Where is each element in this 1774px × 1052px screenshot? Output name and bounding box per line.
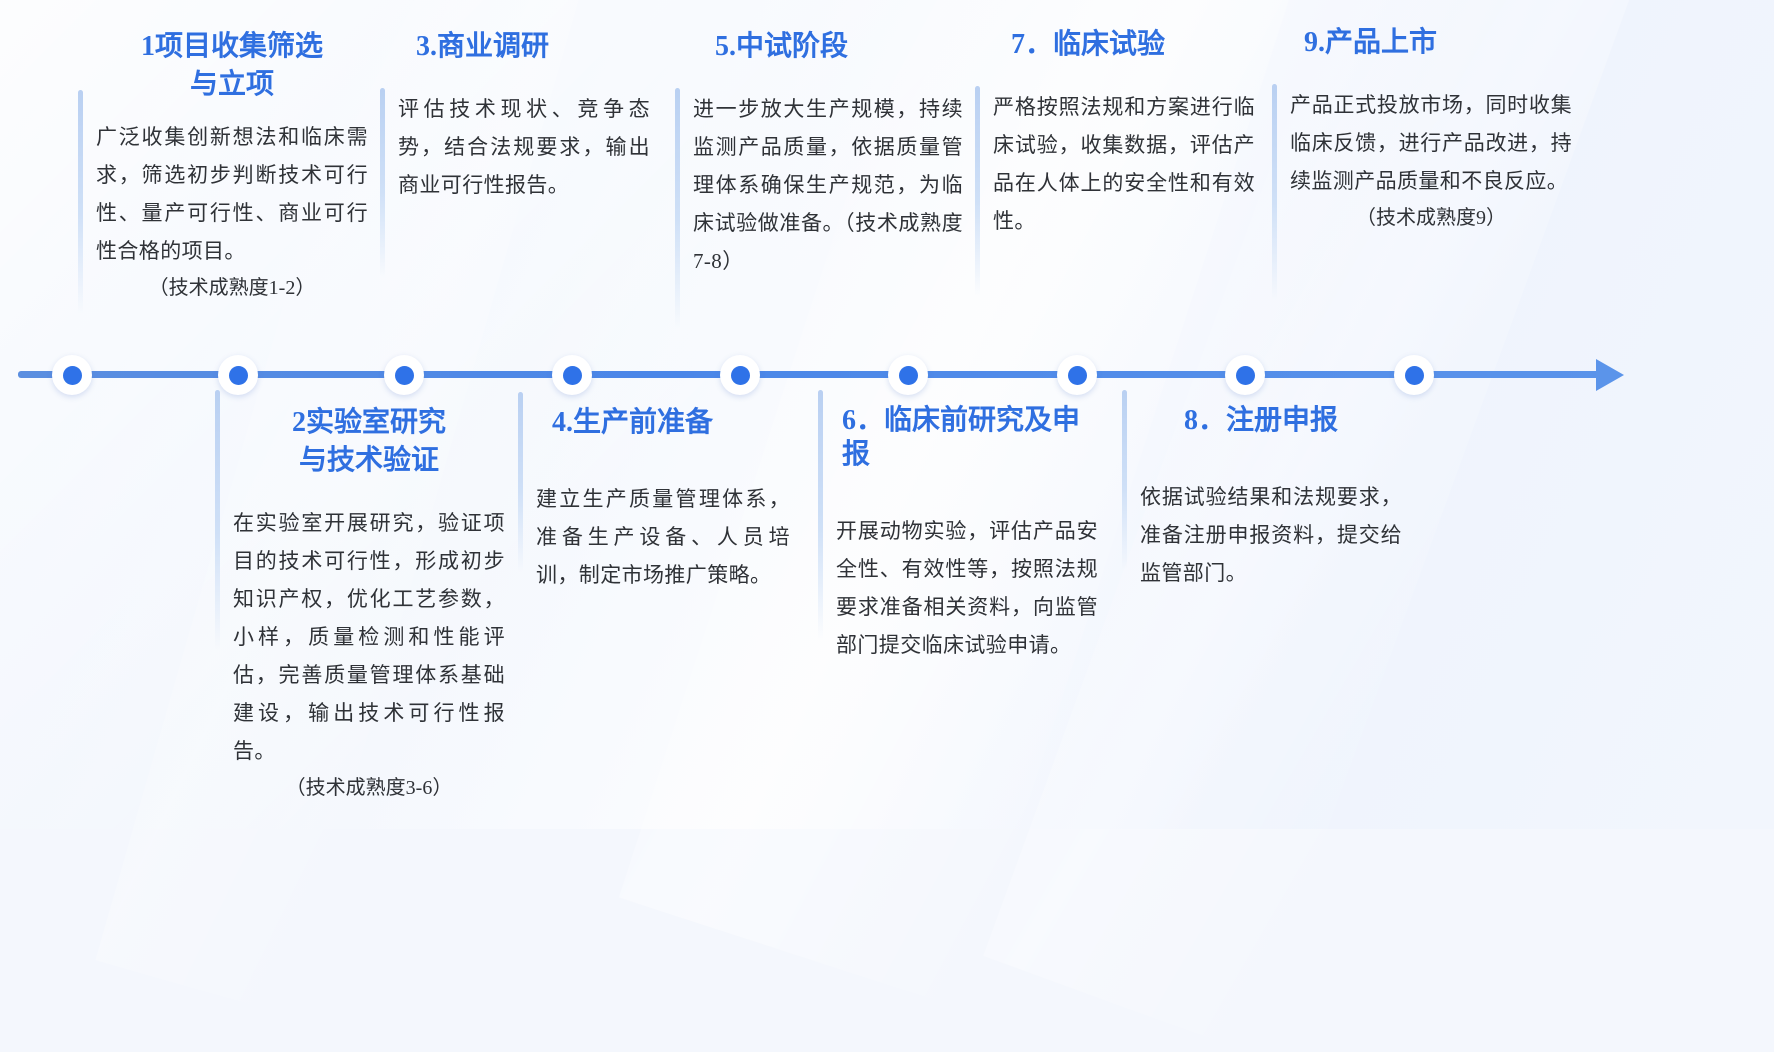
card-title: 9.产品上市	[1290, 26, 1572, 60]
card-title: 7．临床试验	[993, 28, 1255, 62]
card-description: 建立生产质量管理体系，准备生产设备、人员培训，制定市场推广策略。	[536, 480, 790, 594]
card-accent-bar	[1122, 390, 1127, 570]
card-title: 8．注册申报	[1140, 404, 1402, 438]
node-dot-icon	[1405, 366, 1424, 385]
card-title-line1: 2实验室研究	[292, 407, 446, 438]
card-title: 4.生产前准备	[536, 406, 790, 440]
node-dot-icon	[731, 366, 750, 385]
card-title-line2: 与技术验证	[299, 445, 439, 476]
card-description: 进一步放大生产规模，持续监测产品质量，依据质量管理体系确保生产规范，为临床试验做…	[693, 90, 963, 280]
timeline-node-3[interactable]	[384, 355, 424, 395]
card-title: 6．临床前研究及申报	[836, 404, 1098, 472]
card-description: 开展动物实验，评估产品安全性、有效性等，按照法规要求准备相关资料，向监管部门提交…	[836, 512, 1098, 664]
card-accent-bar	[78, 90, 83, 315]
card-title: 3.商业调研	[398, 30, 650, 64]
card-accent-bar	[518, 392, 523, 572]
node-dot-icon	[229, 366, 248, 385]
card-description: 评估技术现状、竞争态势，结合法规要求，输出商业可行性报告。	[398, 90, 650, 204]
timeline-diagram: 1项目收集筛选 与立项 广泛收集创新想法和临床需求，筛选初步判断技术可行性、量产…	[0, 0, 1774, 829]
card-title: 2实验室研究 与技术验证	[233, 404, 505, 480]
card-description: 依据试验结果和法规要求，准备注册申报资料，提交给监管部门。	[1140, 478, 1402, 592]
card-accent-bar	[1272, 84, 1277, 300]
card-description: 产品正式投放市场，同时收集临床反馈，进行产品改进，持续监测产品质量和不良反应。	[1290, 86, 1572, 200]
timeline-node-2[interactable]	[218, 355, 258, 395]
node-dot-icon	[395, 366, 414, 385]
node-dot-icon	[63, 366, 82, 385]
card-description: 广泛收集创新想法和临床需求，筛选初步判断技术可行性、量产可行性、商业可行性合格的…	[96, 118, 368, 270]
timeline-node-7[interactable]	[1057, 355, 1097, 395]
timeline-node-5[interactable]	[720, 355, 760, 395]
card-title-line2: 与立项	[190, 69, 274, 100]
timeline-node-9[interactable]	[1394, 355, 1434, 395]
timeline-node-4[interactable]	[552, 355, 592, 395]
card-accent-bar	[380, 88, 385, 278]
card-description: 在实验室开展研究，验证项目的技术可行性，形成初步知识产权，优化工艺参数，小样，质…	[233, 504, 505, 770]
timeline-node-8[interactable]	[1225, 355, 1265, 395]
timeline-axis	[0, 355, 1774, 395]
card-note: （技术成熟度3-6）	[233, 770, 505, 806]
timeline-arrow-icon	[1596, 359, 1624, 391]
card-note: （技术成熟度1-2）	[96, 270, 368, 306]
node-dot-icon	[563, 366, 582, 385]
card-note: （技术成熟度9）	[1290, 200, 1572, 236]
node-dot-icon	[1068, 366, 1087, 385]
card-accent-bar	[975, 86, 980, 296]
card-title: 1项目收集筛选 与立项	[96, 28, 368, 104]
card-accent-bar	[818, 390, 823, 640]
card-title: 5.中试阶段	[693, 30, 963, 64]
card-accent-bar	[215, 390, 220, 650]
timeline-node-6[interactable]	[888, 355, 928, 395]
card-title-line1: 1项目收集筛选	[141, 31, 323, 62]
node-dot-icon	[899, 366, 918, 385]
card-description: 严格按照法规和方案进行临床试验，收集数据，评估产品在人体上的安全性和有效性。	[993, 88, 1255, 240]
timeline-node-1[interactable]	[52, 355, 92, 395]
node-dot-icon	[1236, 366, 1255, 385]
card-accent-bar	[675, 88, 680, 328]
